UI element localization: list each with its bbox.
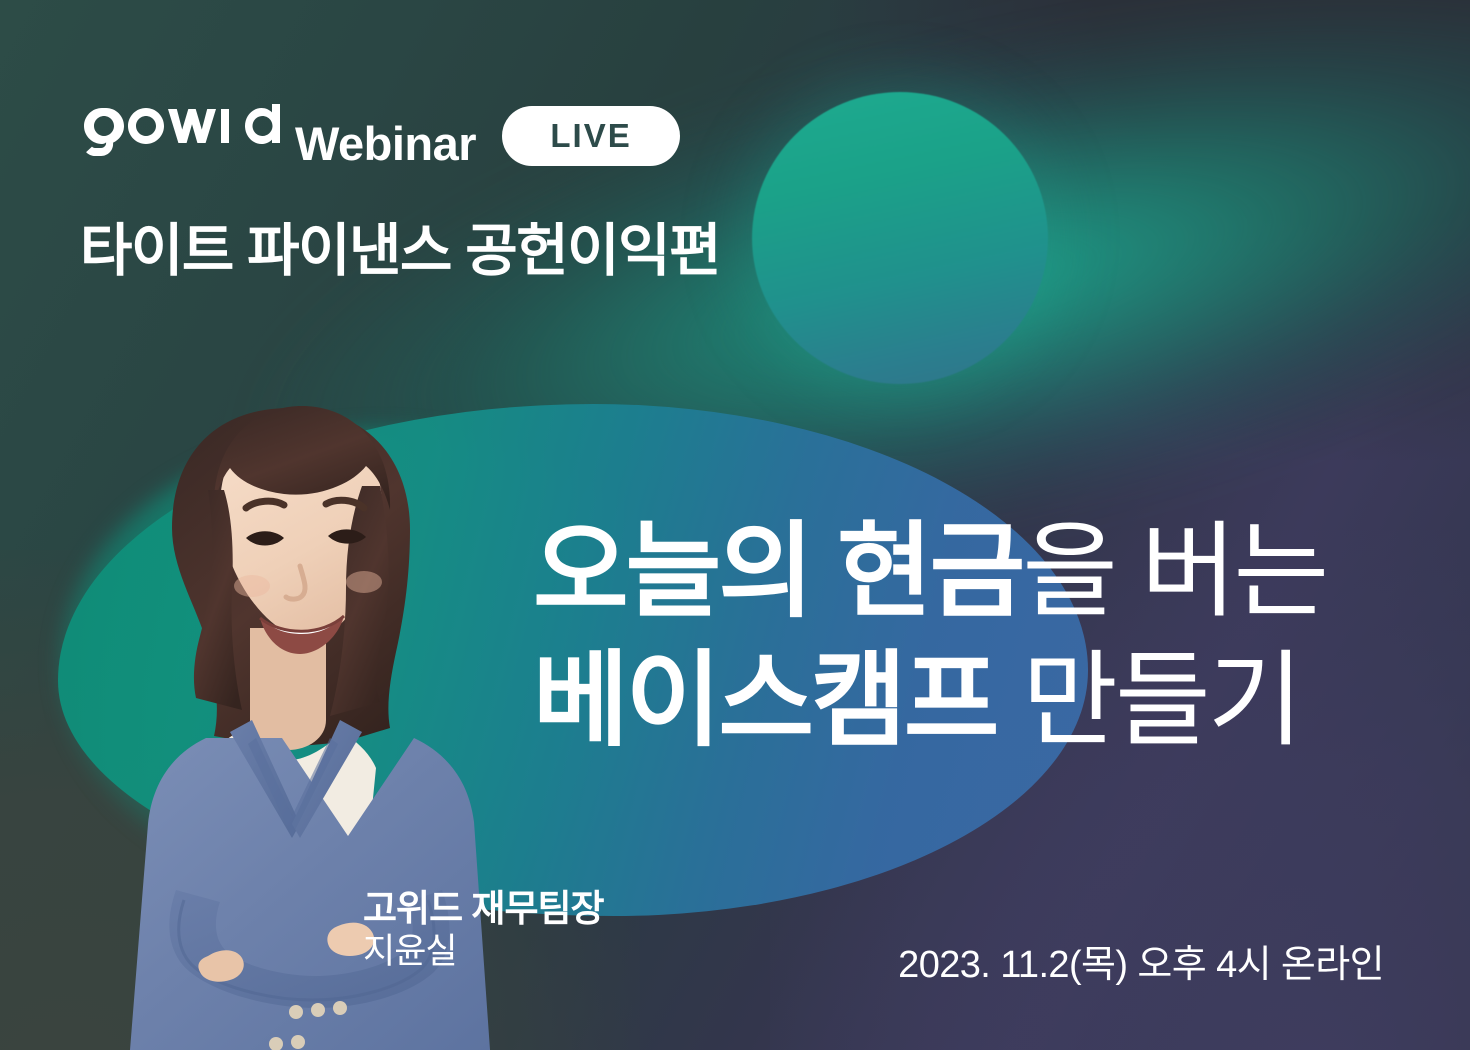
headline-line-1-bold: 오늘의 현금: [533, 514, 1022, 630]
subtitle: 타이트 파이낸스 공헌이익편: [80, 205, 720, 287]
headline-line-2-bold: 베이스캠프: [533, 643, 996, 759]
headline-line-1: 오늘의 현금을 버는: [533, 512, 1326, 633]
headline-line-2-light: 만들기: [996, 643, 1300, 759]
speaker-name: 지윤실: [363, 931, 604, 974]
gowid-logo-icon: [84, 104, 280, 160]
header: Webinar LIVE: [84, 104, 680, 167]
headline-line-1-light: 을 버는: [1022, 514, 1326, 630]
live-badge: LIVE: [502, 106, 680, 166]
headline: 오늘의 현금을 버는 베이스캠프 만들기: [533, 512, 1326, 761]
headline-line-2: 베이스캠프 만들기: [533, 641, 1326, 762]
speaker-caption: 고위드 재무팀장 지윤실: [363, 886, 604, 974]
brand-lockup: Webinar: [84, 104, 476, 167]
schedule-datetime: 2023. 11.2(목) 오후 4시 온라인: [898, 933, 1384, 988]
decorative-circle: [752, 92, 1048, 384]
webinar-label: Webinar: [295, 120, 476, 167]
webinar-poster: Webinar LIVE 타이트 파이낸스 공헌이익편: [0, 0, 1470, 1050]
speaker-role: 고위드 재무팀장: [363, 886, 604, 931]
